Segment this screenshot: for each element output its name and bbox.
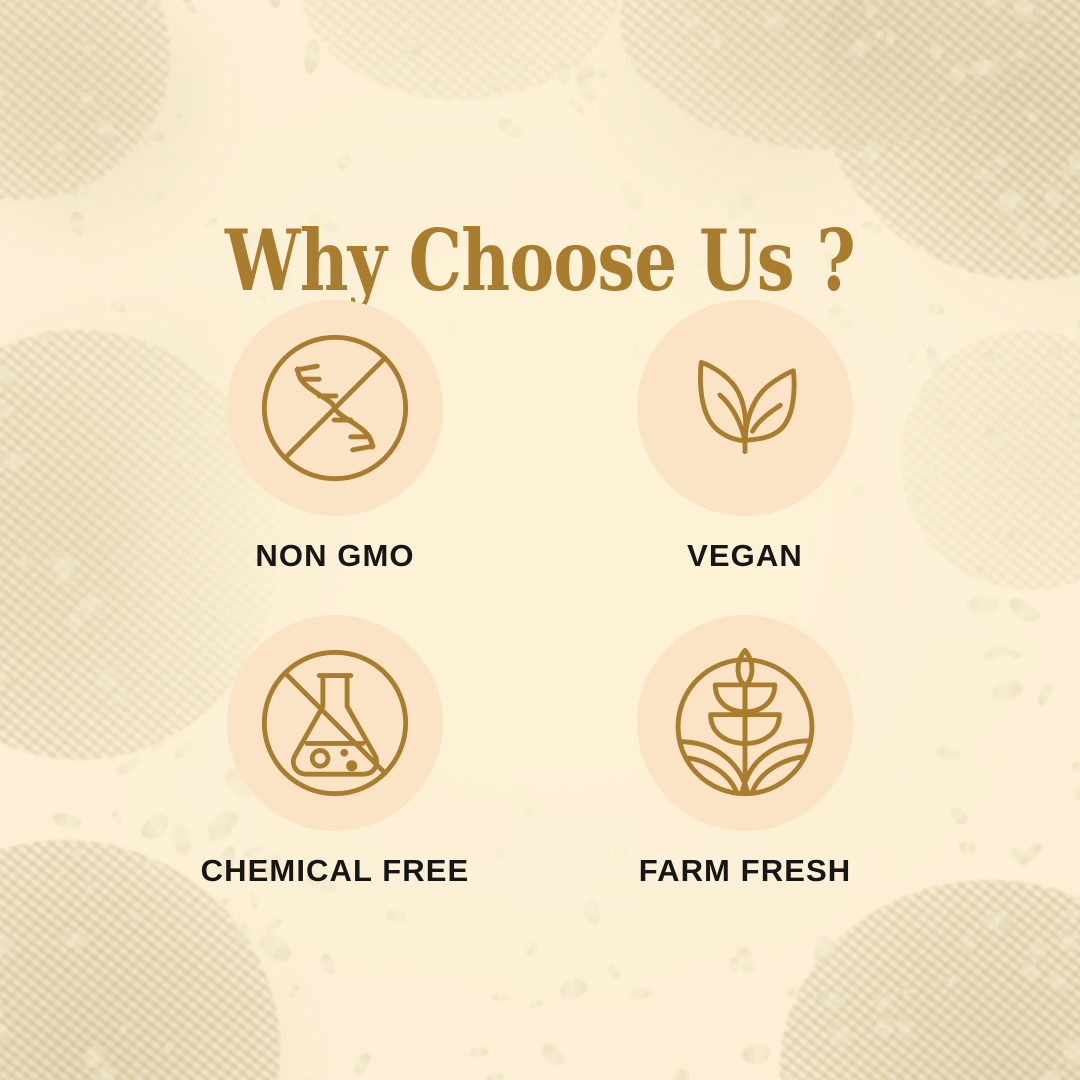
two-leaves-icon [652, 315, 838, 501]
feature-item-chemical-free[interactable]: CHEMICAL FREE [201, 615, 470, 930]
page-title: Why Choose Us ? [108, 219, 972, 303]
feature-label-non-gmo: NON GMO [255, 538, 414, 574]
badge-farm-fresh [637, 615, 853, 831]
feature-label-chemical-free: CHEMICAL FREE [201, 853, 470, 889]
feature-grid: NON GMO VEGAN [130, 300, 950, 930]
badge-chemical-free [227, 615, 443, 831]
badge-vegan [637, 300, 853, 516]
feature-item-non-gmo[interactable]: NON GMO [227, 300, 443, 615]
feature-item-vegan[interactable]: VEGAN [637, 300, 853, 615]
wheat-field-icon [652, 630, 838, 816]
promo-graphic: Why Choose Us ? [0, 0, 1080, 1080]
no-chemical-flask-icon [242, 630, 428, 816]
badge-non-gmo [227, 300, 443, 516]
feature-label-vegan: VEGAN [687, 538, 803, 574]
no-gmo-dna-icon [242, 315, 428, 501]
feature-label-farm-fresh: FARM FRESH [639, 853, 852, 889]
feature-item-farm-fresh[interactable]: FARM FRESH [637, 615, 853, 930]
